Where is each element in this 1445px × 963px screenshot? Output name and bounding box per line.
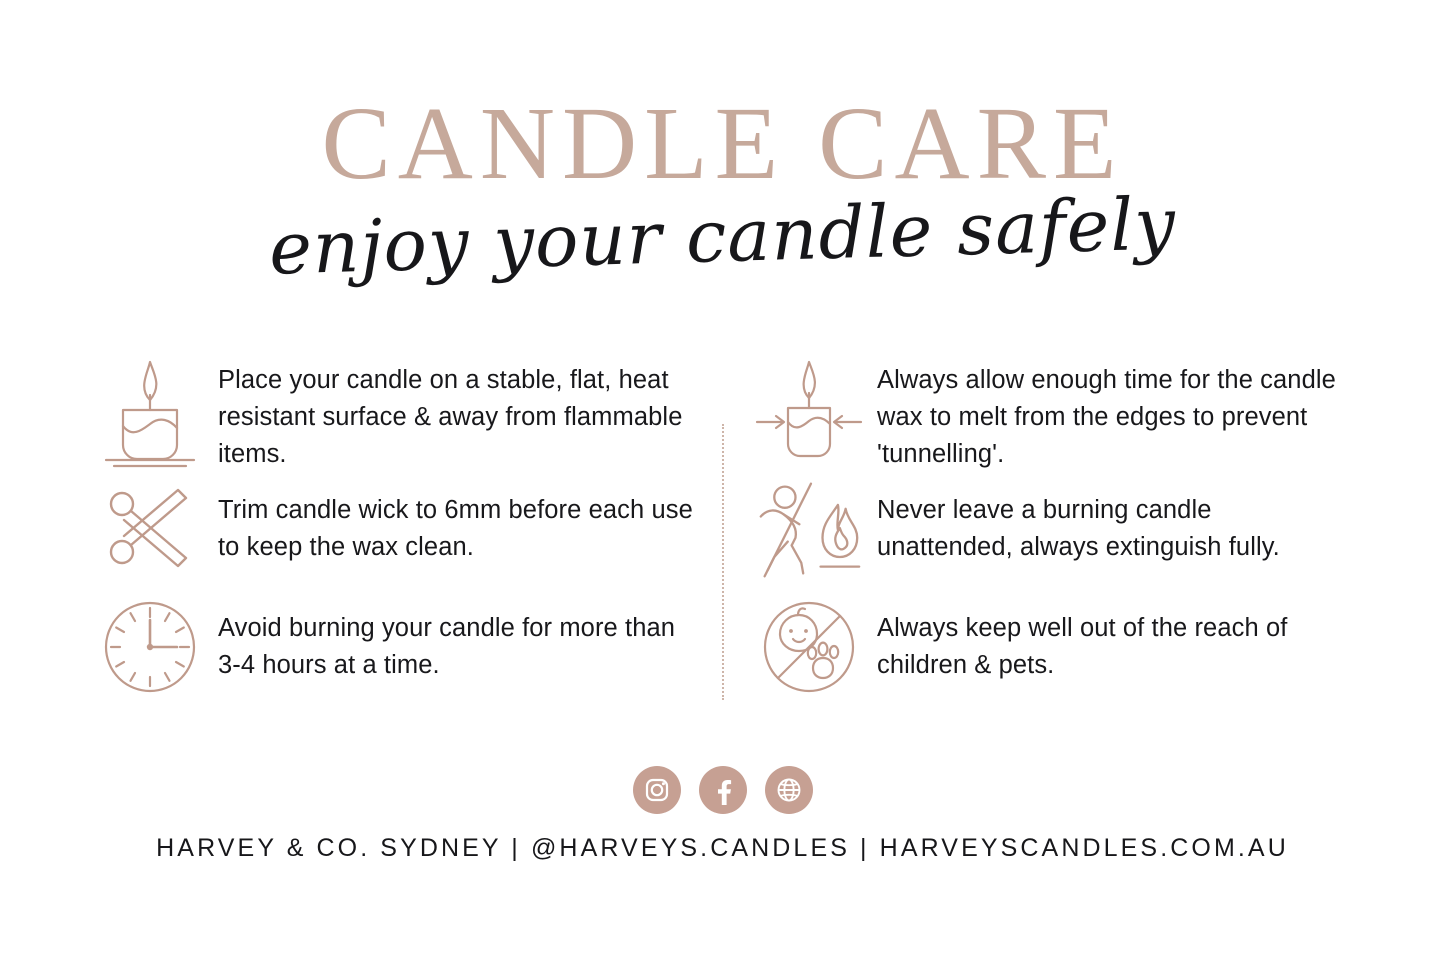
tip-text: Never leave a burning candle unattended,… [877,478,1352,566]
header: CANDLE CARE enjoy your candle safely [0,92,1445,272]
footer-contact-line: HARVEY & CO. SYDNEY | @HARVEYS.CANDLES |… [0,834,1445,863]
person-leaving-flame-icon [755,478,863,580]
instagram-icon[interactable] [633,766,681,814]
dotted-line [722,424,726,700]
scissors-icon [96,478,204,576]
tip-trim-wick: Trim candle wick to 6mm before each use … [96,478,693,596]
tip-burn-time: Avoid burning your candle for more than … [96,596,693,714]
facebook-icon[interactable] [699,766,747,814]
tip-text: Avoid burning your candle for more than … [218,596,693,684]
no-children-pets-icon [755,596,863,696]
tip-text: Trim candle wick to 6mm before each use … [218,478,693,566]
page-subtitle: enjoy your candle safely [0,180,1445,292]
tip-never-unattended: Never leave a burning candle unattended,… [755,478,1352,596]
page-title: CANDLE CARE [0,92,1445,196]
tip-tunnelling: Always allow enough time for the candle … [755,352,1352,478]
tip-place-candle: Place your candle on a stable, flat, hea… [96,352,693,478]
website-globe-icon[interactable] [765,766,813,814]
social-links [0,766,1445,814]
tips-grid: Place your candle on a stable, flat, hea… [96,352,1352,722]
candle-on-surface-icon [96,352,204,472]
clock-icon [96,596,204,696]
tip-keep-away-children-pets: Always keep well out of the reach of chi… [755,596,1352,714]
tip-text: Always keep well out of the reach of chi… [877,596,1352,684]
candle-melt-edges-icon [755,352,863,472]
tip-text: Always allow enough time for the candle … [877,352,1352,474]
column-divider [693,352,755,714]
candle-care-card: CANDLE CARE enjoy your candle safely [0,0,1445,963]
tip-text: Place your candle on a stable, flat, hea… [218,352,693,474]
